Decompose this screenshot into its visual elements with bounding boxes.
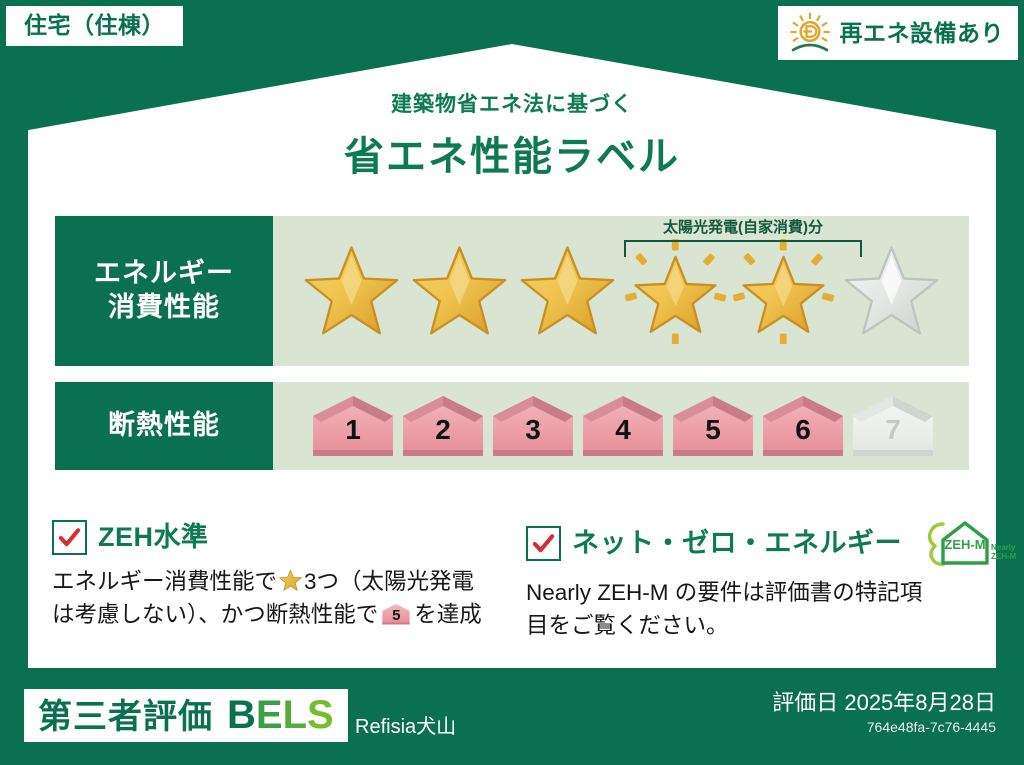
zeh-standard-title: ZEH水準 <box>98 524 209 551</box>
grade-house-1: 1 <box>309 390 397 462</box>
energy-label-line1: エネルギー <box>94 257 234 291</box>
grade-house-6: 6 <box>759 390 847 462</box>
star-2 <box>407 239 512 344</box>
zeh-standard-checkbox[interactable] <box>52 520 87 555</box>
label-title-block: 建築物省エネ法に基づく 省エネ性能ラベル <box>0 88 1024 182</box>
svg-text:Nearly: Nearly <box>991 543 1016 552</box>
grade-house-4: 4 <box>579 390 667 462</box>
insulation-performance-label: 断熱性能 <box>55 382 273 470</box>
bels-plate: 第三者評価 BELS <box>24 689 348 742</box>
insulation-grades-panel: 1 <box>273 382 969 470</box>
third-party-eval-label: 第三者評価 <box>38 700 213 734</box>
star-4-solar <box>623 239 728 344</box>
evaluation-id: 764e48fa-7c76-4445 <box>772 720 996 735</box>
net-zero-checkbox[interactable] <box>526 526 561 561</box>
bels-letter-s: S <box>307 693 334 737</box>
star-3 <box>515 239 620 344</box>
evaluation-info: 評価日 2025年8月28日 764e48fa-7c76-4445 <box>772 691 996 736</box>
inline-star-icon <box>278 568 303 593</box>
insulation-label-text: 断熱性能 <box>108 409 220 443</box>
net-zero-body: Nearly ZEH-M の要件は評価書の特記項 目をご覧ください。 <box>526 577 972 642</box>
statement-zeh-standard: ZEH水準 エネルギー消費性能で 3つ（太陽光発電 は考慮しない）、かつ断熱性能… <box>52 520 498 642</box>
svg-text:ZEH-M: ZEH-M <box>991 552 1017 561</box>
evaluation-date-value: 2025年8月28日 <box>844 690 996 715</box>
star-5-solar <box>731 239 836 344</box>
footer-bar: 第三者評価 BELS Refisia犬山 評価日 2025年8月28日 764e… <box>0 675 1024 765</box>
net-zero-body-line2: 目をご覧ください。 <box>526 613 729 638</box>
grade-house-5: 5 <box>669 390 757 462</box>
zeh-m-logo-icon: ZEH-M Nearly ZEH-M <box>917 520 1017 566</box>
zeh-standard-header: ZEH水準 <box>52 520 498 555</box>
svg-text:ZEH-M: ZEH-M <box>944 537 985 552</box>
bels-letter-l: L <box>283 693 307 737</box>
star-6-empty <box>839 239 944 344</box>
certification-statements: ZEH水準 エネルギー消費性能で 3つ（太陽光発電 は考慮しない）、かつ断熱性能… <box>52 520 972 642</box>
zeh-body-part2: は考慮しない）、かつ断熱性能で <box>52 602 378 627</box>
performance-rows: エネルギー 消費性能 太陽光発電(自家消費)分 <box>55 216 969 486</box>
solar-annotation-label: 太陽光発電(自家消費)分 <box>618 220 868 237</box>
renewable-badge-label: 再エネ設備あり <box>840 22 1005 45</box>
grade-house-3: 3 <box>489 390 577 462</box>
property-name: Refisia犬山 <box>355 717 456 737</box>
check-icon <box>532 532 555 555</box>
inline-grade-value: 5 <box>381 602 411 627</box>
dwelling-type-label: 住宅（住棟） <box>24 12 165 38</box>
zeh-body-part3: を達成 <box>414 602 482 627</box>
grade-house-7-empty: 7 <box>849 390 937 462</box>
evaluation-date-line: 評価日 2025年8月28日 <box>772 691 996 715</box>
zeh-body-part1: エネルギー消費性能で <box>52 569 277 594</box>
dwelling-type-tag: 住宅（住棟） <box>6 6 183 46</box>
insulation-grade-scale: 1 <box>273 390 969 462</box>
inline-grade-house-icon: 5 <box>381 602 411 627</box>
grade-house-2: 2 <box>399 390 487 462</box>
net-zero-title: ネット・ゼロ・エネルギー <box>572 530 902 557</box>
page-title: 省エネ性能ラベル <box>0 124 1024 182</box>
energy-star-rating <box>273 239 969 344</box>
solar-sun-icon <box>788 12 832 54</box>
renewable-equipment-badge: 再エネ設備あり <box>778 6 1019 60</box>
energy-performance-row: エネルギー 消費性能 太陽光発電(自家消費)分 <box>55 216 969 366</box>
bels-energy-label: 住宅（住棟） 再エ <box>0 0 1024 765</box>
net-zero-header: ネット・ゼロ・エネルギー ZEH-M Nearly ZEH-M <box>526 520 972 566</box>
bels-letter-e: E <box>256 693 283 737</box>
net-zero-body-line1: Nearly ZEH-M の要件は評価書の特記項 <box>526 580 922 605</box>
energy-label-line2: 消費性能 <box>108 291 220 325</box>
title-subtitle: 建築物省エネ法に基づく <box>0 88 1024 118</box>
evaluation-date-label: 評価日 <box>772 690 838 715</box>
bels-wordmark: BELS <box>227 695 334 735</box>
insulation-performance-row: 断熱性能 <box>55 382 969 470</box>
energy-stars-panel: 太陽光発電(自家消費)分 <box>273 216 969 366</box>
star-1 <box>299 239 404 344</box>
zeh-standard-body: エネルギー消費性能で 3つ（太陽光発電 は考慮しない）、かつ断熱性能で <box>52 566 498 631</box>
energy-performance-label: エネルギー 消費性能 <box>55 216 273 366</box>
check-icon <box>58 526 81 549</box>
zeh-body-star-count: 3つ（太陽光発電 <box>304 569 474 594</box>
statement-net-zero-energy: ネット・ゼロ・エネルギー ZEH-M Nearly ZEH-M Nearly Z… <box>526 520 972 642</box>
bels-letter-b: B <box>227 693 256 737</box>
